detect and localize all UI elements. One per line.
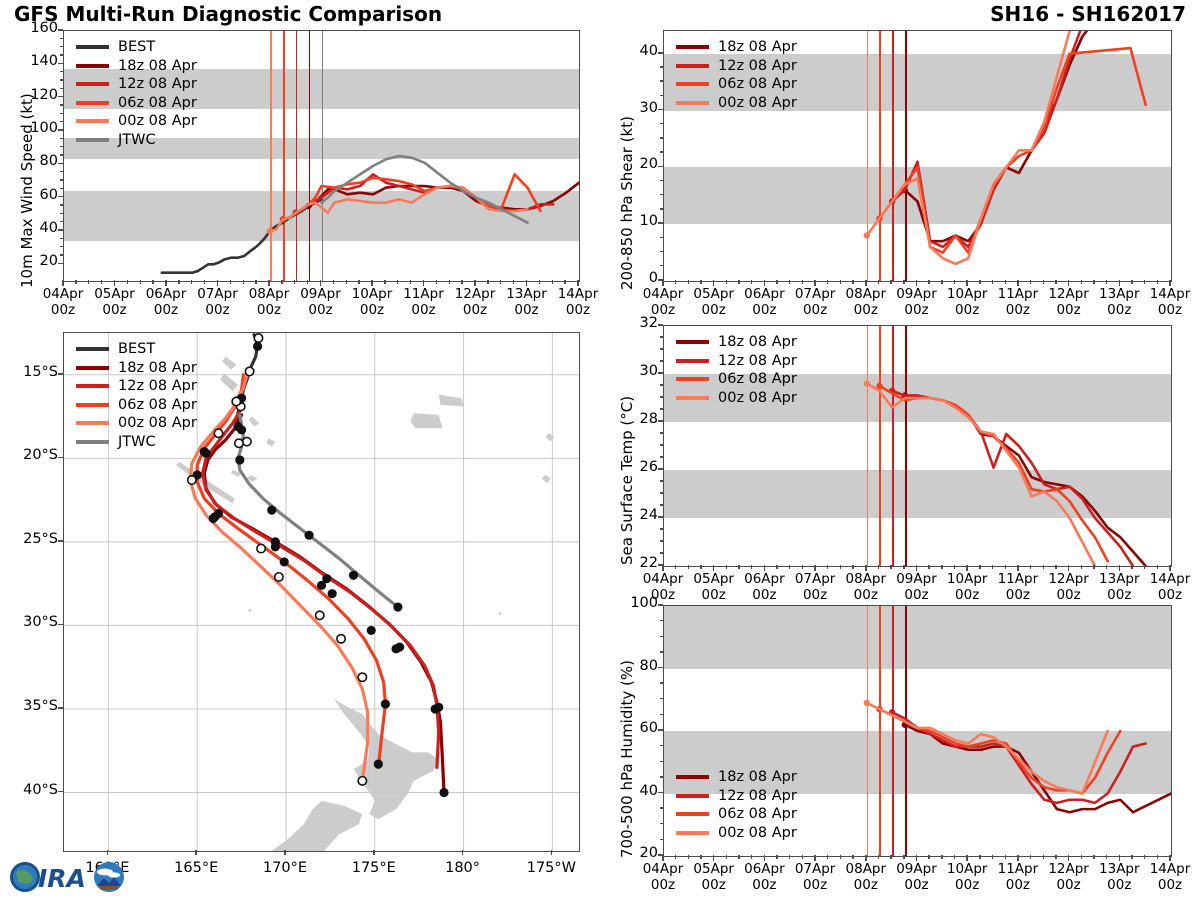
y-tick-mark [658, 516, 663, 518]
x-minor-tick [191, 280, 192, 284]
x-minor-tick [1157, 565, 1158, 569]
y-tick-label: 120 [13, 87, 58, 103]
series-start-marker [267, 228, 273, 234]
y-minor-tick [660, 265, 663, 266]
coastline-landmass [224, 801, 362, 852]
legend-swatch-line [676, 101, 709, 105]
y-minor-tick [60, 79, 63, 80]
legend-item-06z-08-apr: 06z 08 Apr [76, 94, 197, 113]
y-minor-tick [660, 761, 663, 762]
legend-label: 06z 08 Apr [718, 76, 797, 92]
legend-item-18z-08-apr: 18z 08 Apr [676, 38, 797, 57]
y-minor-tick [60, 146, 63, 147]
lon-tick-label: 175°W [511, 860, 591, 877]
x-minor-tick [1093, 855, 1094, 859]
legend-item-00z-08-apr: 00z 08 Apr [676, 824, 797, 843]
x-minor-tick [890, 855, 891, 859]
y-minor-tick [660, 360, 663, 361]
x-minor-tick [941, 280, 942, 284]
x-tick-label: 14Apr00z [542, 287, 614, 319]
legend-swatch-line [76, 64, 109, 68]
y-minor-tick [60, 104, 63, 105]
x-minor-tick [230, 280, 231, 284]
legend-swatch-line [76, 119, 109, 123]
y-tick-mark [58, 196, 63, 198]
legend-label: 12z 08 Apr [718, 58, 797, 74]
x-minor-tick [675, 855, 676, 859]
legend-item-00z-08-apr: 00z 08 Apr [76, 112, 197, 131]
legend-intensity: BEST18z 08 Apr12z 08 Apr06z 08 Apr00z 08… [76, 38, 197, 149]
series-line [867, 31, 1070, 264]
legend-swatch-line [76, 403, 109, 407]
lon-tick-mark [551, 850, 553, 855]
legend-label: 00z 08 Apr [718, 95, 797, 111]
x-minor-tick [410, 280, 411, 284]
x-minor-tick [75, 280, 76, 284]
legend-item-18z-08-apr: 18z 08 Apr [676, 768, 797, 787]
y-minor-tick [660, 80, 663, 81]
track-marker-open [254, 334, 262, 342]
x-minor-tick [979, 280, 980, 284]
x-minor-tick [1030, 565, 1031, 569]
lat-tick-label: 40°S [0, 782, 58, 798]
x-minor-tick [1043, 855, 1044, 859]
y-minor-tick [60, 238, 63, 239]
y-minor-tick [660, 552, 663, 553]
lon-tick-mark [373, 850, 375, 855]
legend-swatch-line [76, 347, 109, 351]
x-minor-tick [127, 280, 128, 284]
x-minor-tick [928, 855, 929, 859]
x-minor-tick [88, 280, 89, 284]
x-minor-tick [726, 855, 727, 859]
y-tick-label: 30 [613, 100, 658, 116]
x-minor-tick [992, 280, 993, 284]
track-marker-filled [253, 342, 262, 351]
legend-sst: 18z 08 Apr12z 08 Apr06z 08 Apr00z 08 Apr [676, 333, 797, 407]
legend-swatch-line [676, 812, 709, 816]
x-minor-tick [688, 855, 689, 859]
legend-swatch-line [76, 45, 109, 49]
x-minor-tick [1144, 855, 1145, 859]
x-minor-tick [789, 855, 790, 859]
x-minor-tick [726, 565, 727, 569]
lat-tick-mark [58, 624, 63, 626]
y-tick-mark [658, 324, 663, 326]
legend-shear: 18z 08 Apr12z 08 Apr06z 08 Apr00z 08 Apr [676, 38, 797, 112]
legend-item-12z-08-apr: 12z 08 Apr [676, 787, 797, 806]
legend-label: 06z 08 Apr [718, 371, 797, 387]
x-minor-tick [1093, 565, 1094, 569]
lon-tick-mark [462, 850, 464, 855]
x-minor-tick [675, 565, 676, 569]
legend-item-06z-08-apr: 06z 08 Apr [676, 805, 797, 824]
track-marker-filled [237, 425, 246, 434]
x-tick-hour: 00z [1134, 588, 1200, 604]
y-minor-tick [660, 807, 663, 808]
coastline-landmass [222, 356, 236, 369]
x-minor-tick [954, 280, 955, 284]
x-minor-tick [827, 855, 828, 859]
legend-label: 06z 08 Apr [118, 95, 197, 111]
legend-item-18z-08-apr: 18z 08 Apr [676, 333, 797, 352]
x-minor-tick [461, 280, 462, 284]
x-minor-tick [941, 855, 942, 859]
x-minor-tick [700, 855, 701, 859]
axis-label-rh-y: 700-500 hPa Humidity (%) [618, 660, 636, 858]
series-line [867, 384, 1095, 566]
track-marker-filled [304, 531, 313, 540]
y-tick-label: 160 [13, 20, 58, 36]
legend-swatch-line [676, 831, 709, 835]
x-minor-tick [1055, 565, 1056, 569]
y-minor-tick [60, 254, 63, 255]
legend-label: 18z 08 Apr [718, 39, 797, 55]
legend-swatch-line [676, 340, 709, 344]
x-minor-tick [1131, 855, 1132, 859]
legend-swatch-line [76, 440, 109, 444]
y-tick-mark [658, 468, 663, 470]
x-minor-tick [1144, 565, 1145, 569]
x-minor-tick [1131, 565, 1132, 569]
y-minor-tick [660, 776, 663, 777]
y-tick-mark [658, 729, 663, 731]
lat-tick-label: 15°S [0, 364, 58, 380]
x-tick-hour: 00z [1134, 878, 1200, 894]
series-start-marker [864, 380, 870, 386]
track-marker-filled [280, 557, 289, 566]
legend-swatch-line [676, 377, 709, 381]
y-minor-tick [660, 714, 663, 715]
lon-tick-label: 180° [423, 860, 503, 877]
y-minor-tick [60, 54, 63, 55]
x-minor-tick [954, 855, 955, 859]
y-tick-label: 30 [613, 363, 658, 379]
legend-label: 12z 08 Apr [118, 378, 197, 394]
legend-label: 18z 08 Apr [118, 360, 197, 376]
x-minor-tick [941, 565, 942, 569]
y-tick-label: 40 [613, 783, 658, 799]
x-minor-tick [436, 280, 437, 284]
y-minor-tick [60, 88, 63, 89]
legend-label: 00z 08 Apr [118, 113, 197, 129]
lon-tick-label: 170°E [245, 860, 325, 877]
y-tick-label: 24 [613, 507, 658, 523]
x-minor-tick [979, 855, 980, 859]
y-minor-tick [60, 138, 63, 139]
x-minor-tick [751, 855, 752, 859]
x-minor-tick [449, 280, 450, 284]
lat-tick-mark [58, 791, 63, 793]
y-tick-label: 60 [613, 720, 658, 736]
track-marker-filled [431, 704, 440, 713]
y-minor-tick [60, 213, 63, 214]
y-minor-tick [660, 839, 663, 840]
y-minor-tick [660, 66, 663, 67]
legend-item-00z-08-apr: 00z 08 Apr [676, 94, 797, 113]
y-minor-tick [660, 348, 663, 349]
track-marker-filled [235, 455, 244, 464]
lat-tick-label: 30°S [0, 614, 58, 630]
legend-item-12z-08-apr: 12z 08 Apr [76, 377, 197, 396]
y-minor-tick [60, 46, 63, 47]
y-minor-tick [60, 121, 63, 122]
x-minor-tick [333, 280, 334, 284]
series-line [879, 386, 1107, 561]
legend-item-12z-08-apr: 12z 08 Apr [76, 75, 197, 94]
x-minor-tick [1106, 565, 1107, 569]
x-minor-tick [1005, 280, 1006, 284]
x-minor-tick [789, 565, 790, 569]
x-minor-tick [1131, 280, 1132, 284]
x-minor-tick [564, 280, 565, 284]
storm-id-title: SH16 - SH162017 [990, 2, 1186, 26]
y-tick-mark [58, 96, 63, 98]
x-tick-label: 14Apr00z [1134, 572, 1200, 604]
x-minor-tick [878, 565, 879, 569]
x-minor-tick [751, 565, 752, 569]
y-minor-tick [660, 208, 663, 209]
x-minor-tick [840, 280, 841, 284]
track-marker-filled [374, 760, 383, 769]
x-minor-tick [878, 280, 879, 284]
x-minor-tick [738, 855, 739, 859]
x-minor-tick [255, 280, 256, 284]
legend-label: 18z 08 Apr [718, 334, 797, 350]
legend-rh: 18z 08 Apr12z 08 Apr06z 08 Apr00z 08 Apr [676, 768, 797, 842]
y-minor-tick [660, 237, 663, 238]
legend-swatch-line [676, 45, 709, 49]
x-minor-tick [1005, 855, 1006, 859]
x-minor-tick [1043, 280, 1044, 284]
x-minor-tick [903, 855, 904, 859]
track-marker-open [358, 777, 366, 785]
y-tick-mark [58, 229, 63, 231]
track-marker-filled [271, 542, 280, 551]
lon-tick-label: 175°E [334, 860, 414, 877]
track-line [238, 415, 398, 607]
legend-swatch-line [676, 64, 709, 68]
y-minor-tick [660, 123, 663, 124]
lon-tick-mark [195, 850, 197, 855]
x-tick-label: 14Apr00z [1134, 287, 1200, 319]
lon-tick-mark [284, 850, 286, 855]
x-minor-tick [552, 280, 553, 284]
y-minor-tick [660, 528, 663, 529]
y-minor-tick [660, 480, 663, 481]
y-tick-label: 10 [613, 213, 658, 229]
legend-label: 12z 08 Apr [118, 76, 197, 92]
y-minor-tick [660, 151, 663, 152]
track-marker-filled [393, 602, 402, 611]
y-tick-mark [658, 372, 663, 374]
x-minor-tick [776, 565, 777, 569]
lat-tick-label: 20°S [0, 447, 58, 463]
coastline-landmass [266, 438, 275, 446]
series-start-marker [864, 700, 870, 706]
x-minor-tick [346, 280, 347, 284]
legend-item-06z-08-apr: 06z 08 Apr [676, 75, 797, 94]
series-start-marker [864, 232, 870, 238]
legend-label: 00z 08 Apr [718, 825, 797, 841]
track-marker-filled [201, 449, 210, 458]
x-tick-day: 14Apr [1134, 287, 1200, 303]
x-minor-tick [539, 280, 540, 284]
x-tick-day: 14Apr [1134, 572, 1200, 588]
y-tick-label: 0 [613, 270, 658, 286]
y-minor-tick [660, 636, 663, 637]
x-minor-tick [840, 565, 841, 569]
coastline-landmass [439, 395, 464, 407]
y-minor-tick [660, 194, 663, 195]
legend-item-best: BEST [76, 340, 197, 359]
y-minor-tick [60, 188, 63, 189]
x-minor-tick [307, 280, 308, 284]
y-minor-tick [660, 137, 663, 138]
x-minor-tick [1157, 280, 1158, 284]
track-marker-filled [367, 626, 376, 635]
x-minor-tick [294, 280, 295, 284]
x-minor-tick [827, 565, 828, 569]
track-marker-open [235, 439, 243, 447]
x-minor-tick [992, 855, 993, 859]
x-minor-tick [500, 280, 501, 284]
track-marker-open [257, 544, 265, 552]
lat-tick-mark [58, 707, 63, 709]
legend-item-00z-08-apr: 00z 08 Apr [76, 414, 197, 433]
x-minor-tick [852, 565, 853, 569]
legend-item-jtwc: JTWC [76, 131, 197, 150]
legend-item-12z-08-apr: 12z 08 Apr [676, 57, 797, 76]
x-minor-tick [890, 280, 891, 284]
y-tick-mark [658, 166, 663, 168]
y-minor-tick [60, 113, 63, 114]
cira-logo: IRA [8, 856, 128, 896]
x-tick-hour: 00z [1134, 303, 1200, 319]
track-marker-open [337, 635, 345, 643]
track-marker-filled [439, 788, 448, 797]
y-tick-mark [58, 129, 63, 131]
x-tick-label: 14Apr00z [1134, 862, 1200, 894]
y-minor-tick [660, 456, 663, 457]
legend-swatch-line [76, 421, 109, 425]
y-tick-label: 32 [613, 315, 658, 331]
lat-tick-mark [58, 457, 63, 459]
x-minor-tick [852, 855, 853, 859]
x-minor-tick [751, 280, 752, 284]
y-tick-mark [658, 604, 663, 606]
y-tick-label: 40 [613, 43, 658, 59]
x-minor-tick [204, 280, 205, 284]
x-minor-tick [1055, 280, 1056, 284]
y-tick-mark [58, 29, 63, 31]
x-minor-tick [827, 280, 828, 284]
legend-track: BEST18z 08 Apr12z 08 Apr06z 08 Apr00z 08… [76, 340, 197, 451]
track-marker-filled [381, 699, 390, 708]
x-minor-tick [384, 280, 385, 284]
y-minor-tick [660, 682, 663, 683]
x-minor-tick [789, 280, 790, 284]
legend-label: JTWC [118, 434, 156, 450]
legend-swatch-line [76, 101, 109, 105]
lat-tick-label: 35°S [0, 698, 58, 714]
legend-swatch-line [676, 359, 709, 363]
y-minor-tick [660, 444, 663, 445]
y-minor-tick [660, 620, 663, 621]
y-tick-label: 28 [613, 411, 658, 427]
page-title: GFS Multi-Run Diagnostic Comparison [14, 2, 442, 26]
y-tick-label: 80 [613, 658, 658, 674]
y-minor-tick [60, 179, 63, 180]
legend-swatch-line [676, 794, 709, 798]
x-minor-tick [1157, 855, 1158, 859]
track-marker-filled [317, 581, 326, 590]
y-minor-tick [660, 540, 663, 541]
y-minor-tick [60, 171, 63, 172]
y-minor-tick [660, 745, 663, 746]
y-tick-mark [658, 792, 663, 794]
coastline-landmass [249, 609, 253, 612]
y-minor-tick [660, 251, 663, 252]
lat-tick-mark [58, 540, 63, 542]
legend-label: 12z 08 Apr [718, 788, 797, 804]
legend-label: 18z 08 Apr [718, 769, 797, 785]
track-marker-filled [391, 644, 400, 653]
legend-label: 06z 08 Apr [118, 397, 197, 413]
x-minor-tick [1081, 565, 1082, 569]
x-minor-tick [738, 565, 739, 569]
x-minor-tick [1106, 280, 1107, 284]
y-tick-label: 20 [613, 156, 658, 172]
legend-item-jtwc: JTWC [76, 433, 197, 452]
y-minor-tick [60, 221, 63, 222]
legend-item-06z-08-apr: 06z 08 Apr [76, 396, 197, 415]
legend-swatch-line [76, 366, 109, 370]
x-minor-tick [890, 565, 891, 569]
x-minor-tick [903, 280, 904, 284]
legend-label: 18z 08 Apr [118, 58, 197, 74]
legend-label: 00z 08 Apr [118, 415, 197, 431]
x-minor-tick [776, 855, 777, 859]
x-minor-tick [700, 280, 701, 284]
y-tick-label: 20 [613, 845, 658, 861]
legend-label: 06z 08 Apr [718, 806, 797, 822]
y-tick-mark [58, 263, 63, 265]
legend-item-12z-08-apr: 12z 08 Apr [676, 352, 797, 371]
coastline-landmass [410, 413, 442, 428]
x-minor-tick [928, 280, 929, 284]
x-minor-tick [101, 280, 102, 284]
y-minor-tick [660, 95, 663, 96]
x-minor-tick [1144, 280, 1145, 284]
x-minor-tick [1081, 280, 1082, 284]
y-minor-tick [660, 180, 663, 181]
track-marker-open [188, 476, 196, 484]
legend-label: BEST [118, 341, 155, 357]
x-minor-tick [992, 565, 993, 569]
coastline-landmass [499, 612, 503, 615]
x-minor-tick [802, 855, 803, 859]
legend-swatch-line [676, 396, 709, 400]
lon-tick-label: 165°E [156, 860, 236, 877]
x-minor-tick [840, 855, 841, 859]
y-tick-mark [658, 109, 663, 111]
x-minor-tick [726, 280, 727, 284]
y-minor-tick [660, 823, 663, 824]
legend-item-00z-08-apr: 00z 08 Apr [676, 389, 797, 408]
x-minor-tick [358, 280, 359, 284]
x-minor-tick [852, 280, 853, 284]
